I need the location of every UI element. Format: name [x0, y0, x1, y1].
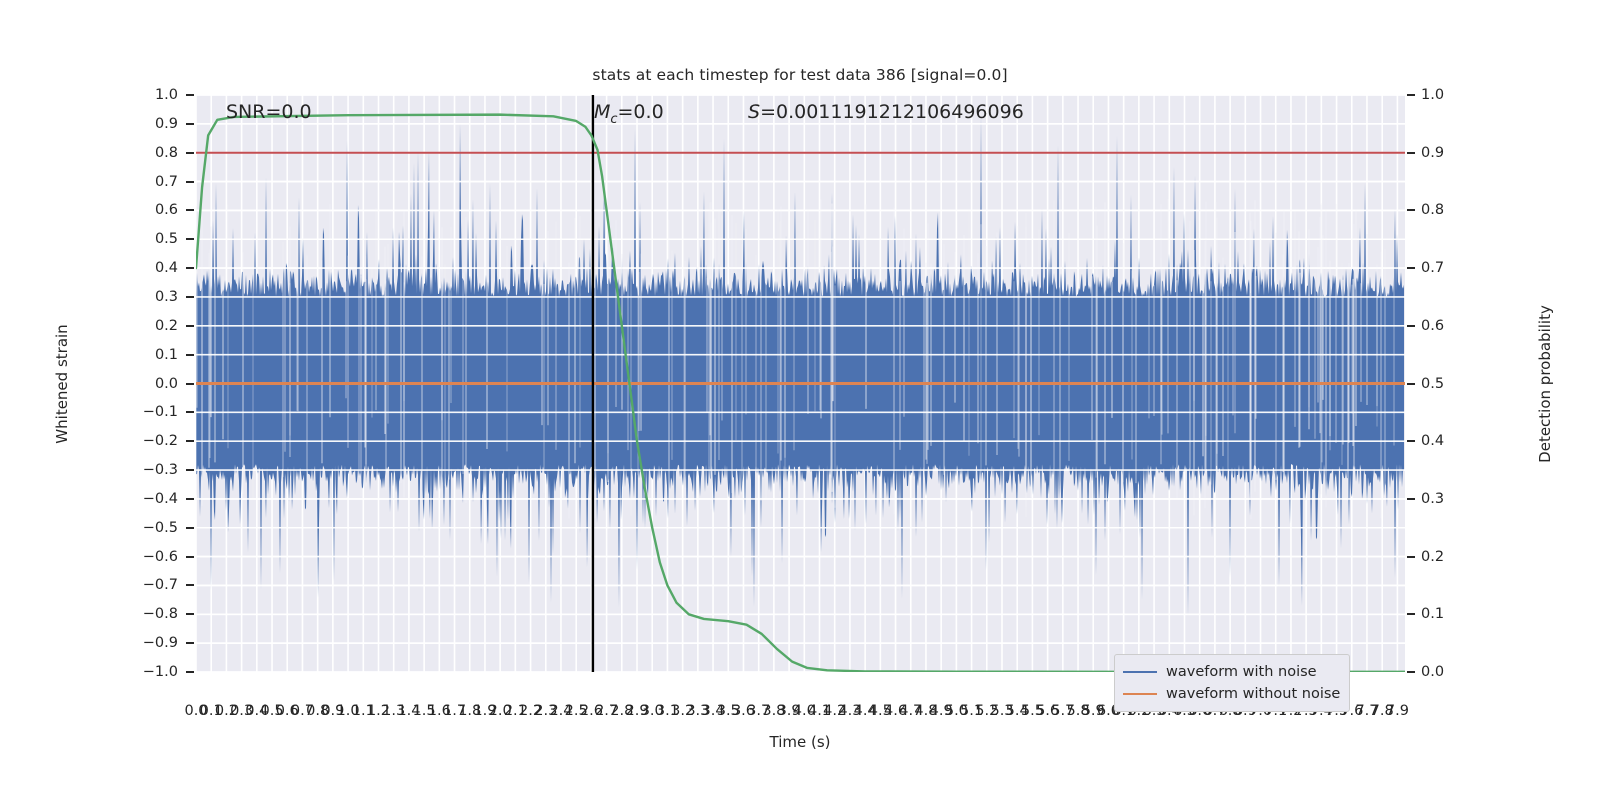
y-axis-right-tick-mark [1407, 325, 1415, 327]
y-axis-right-tick-label: 0.2 [1421, 549, 1444, 565]
y-axis-left-tick-mark [186, 123, 194, 125]
y-axis-right-tick-label: 0.7 [1421, 260, 1444, 276]
y-axis-right-tick-label: 0.4 [1421, 433, 1444, 449]
y-axis-right-tick-label: 0.8 [1421, 202, 1444, 218]
y-axis-left-tick-label: −0.4 [120, 491, 178, 507]
y-axis-right-tick-mark [1407, 613, 1415, 615]
y-axis-left-tick-label: 0.1 [120, 347, 178, 363]
y-axis-right-tick-mark [1407, 383, 1415, 385]
y-axis-left-tick-mark [186, 613, 194, 615]
y-axis-left-tick-mark [186, 209, 194, 211]
y-axis-left-tick-label: −0.7 [120, 577, 178, 593]
y-axis-left-tick-mark [186, 671, 194, 673]
y-axis-left-tick-mark [186, 556, 194, 558]
annotation-snr: SNR=0.0 [226, 101, 312, 123]
y-axis-left-tick-mark [186, 498, 194, 500]
y-axis-right-tick-mark [1407, 209, 1415, 211]
y-axis-left-tick-mark [186, 383, 194, 385]
y-axis-left-tick-label: −0.2 [120, 433, 178, 449]
y-axis-right-tick-mark [1407, 498, 1415, 500]
y-axis-right-tick-mark [1407, 94, 1415, 96]
y-axis-left-tick-mark [186, 584, 194, 586]
y-axis-right-tick-label: 0.0 [1421, 664, 1444, 680]
y-axis-left-tick-label: 0.8 [120, 145, 178, 161]
y-axis-left-tick-label: 0.2 [120, 318, 178, 334]
y-axis-left-tick-label: 0.3 [120, 289, 178, 305]
y-axis-left-tick-mark [186, 152, 194, 154]
legend-item-label: waveform without noise [1166, 686, 1340, 702]
legend: waveform with noisewaveform without nois… [1114, 654, 1350, 712]
y-axis-left-tick-label: −0.3 [120, 462, 178, 478]
x-axis-label: Time (s) [770, 733, 831, 751]
y-axis-left-tick-mark [186, 325, 194, 327]
legend-color-swatch [1123, 693, 1157, 695]
y-axis-right-tick-label: 0.6 [1421, 318, 1444, 334]
legend-item-label: waveform with noise [1166, 664, 1317, 680]
y-axis-left-tick-label: −0.8 [120, 606, 178, 622]
y-axis-left-tick-mark [186, 267, 194, 269]
y-axis-right-tick-label: 1.0 [1421, 87, 1444, 103]
data-layer [196, 95, 1405, 672]
y-axis-left-tick-label: −0.1 [120, 404, 178, 420]
y-axis-left-label: Whitened strain [53, 324, 71, 443]
y-axis-left-tick-mark [186, 296, 194, 298]
annotation-mc-subscript: c [610, 112, 617, 127]
y-axis-right-tick-label: 0.1 [1421, 606, 1444, 622]
y-axis-right-tick-mark [1407, 267, 1415, 269]
legend-color-swatch [1123, 671, 1157, 673]
annotation-chirp-mass: Mc=0.0 [594, 101, 664, 127]
y-axis-right-label: Detection probability [1536, 305, 1554, 463]
y-axis-left-tick-mark [186, 527, 194, 529]
y-axis-right-tick-mark [1407, 440, 1415, 442]
y-axis-left-tick-label: 0.0 [120, 376, 178, 392]
x-axis-tick-label: 7.9 [1386, 703, 1409, 719]
annotation-mc-value: =0.0 [618, 101, 664, 123]
annotation-score: S=0.0011191212106496096 [748, 101, 1024, 123]
y-axis-left-tick-label: −0.5 [120, 520, 178, 536]
y-axis-left-tick-label: −0.6 [120, 549, 178, 565]
y-axis-right-tick-label: 0.5 [1421, 376, 1444, 392]
annotation-s-value: =0.0011191212106496096 [760, 101, 1024, 123]
y-axis-left-tick-mark [186, 440, 194, 442]
legend-item[interactable]: waveform with noise [1123, 661, 1340, 683]
y-axis-left-tick-mark [186, 238, 194, 240]
y-axis-right-tick-label: 0.9 [1421, 145, 1444, 161]
y-axis-right-tick-mark [1407, 152, 1415, 154]
y-axis-right-tick-mark [1407, 671, 1415, 673]
plot-area [196, 95, 1405, 672]
y-axis-left-tick-label: 0.7 [120, 174, 178, 190]
y-axis-left-tick-mark [186, 469, 194, 471]
y-axis-right-tick-label: 0.3 [1421, 491, 1444, 507]
y-axis-left-tick-label: 0.9 [120, 116, 178, 132]
annotation-mc-symbol: M [594, 101, 610, 123]
y-axis-left-tick-mark [186, 181, 194, 183]
legend-item[interactable]: waveform without noise [1123, 683, 1340, 705]
matplotlib-figure: stats at each timestep for test data 386… [0, 0, 1600, 800]
y-axis-left-tick-label: 1.0 [120, 87, 178, 103]
y-axis-right-tick-mark [1407, 556, 1415, 558]
chart-title: stats at each timestep for test data 386… [0, 66, 1600, 84]
y-axis-left-tick-mark [186, 94, 194, 96]
y-axis-left-tick-label: −1.0 [120, 664, 178, 680]
y-axis-left-tick-label: 0.6 [120, 202, 178, 218]
y-axis-left-tick-mark [186, 411, 194, 413]
y-axis-left-tick-label: 0.4 [120, 260, 178, 276]
y-axis-left-tick-mark [186, 354, 194, 356]
y-axis-left-tick-mark [186, 642, 194, 644]
y-axis-left-tick-label: 0.5 [120, 231, 178, 247]
annotation-s-symbol: S [748, 101, 760, 123]
y-axis-left-tick-label: −0.9 [120, 635, 178, 651]
